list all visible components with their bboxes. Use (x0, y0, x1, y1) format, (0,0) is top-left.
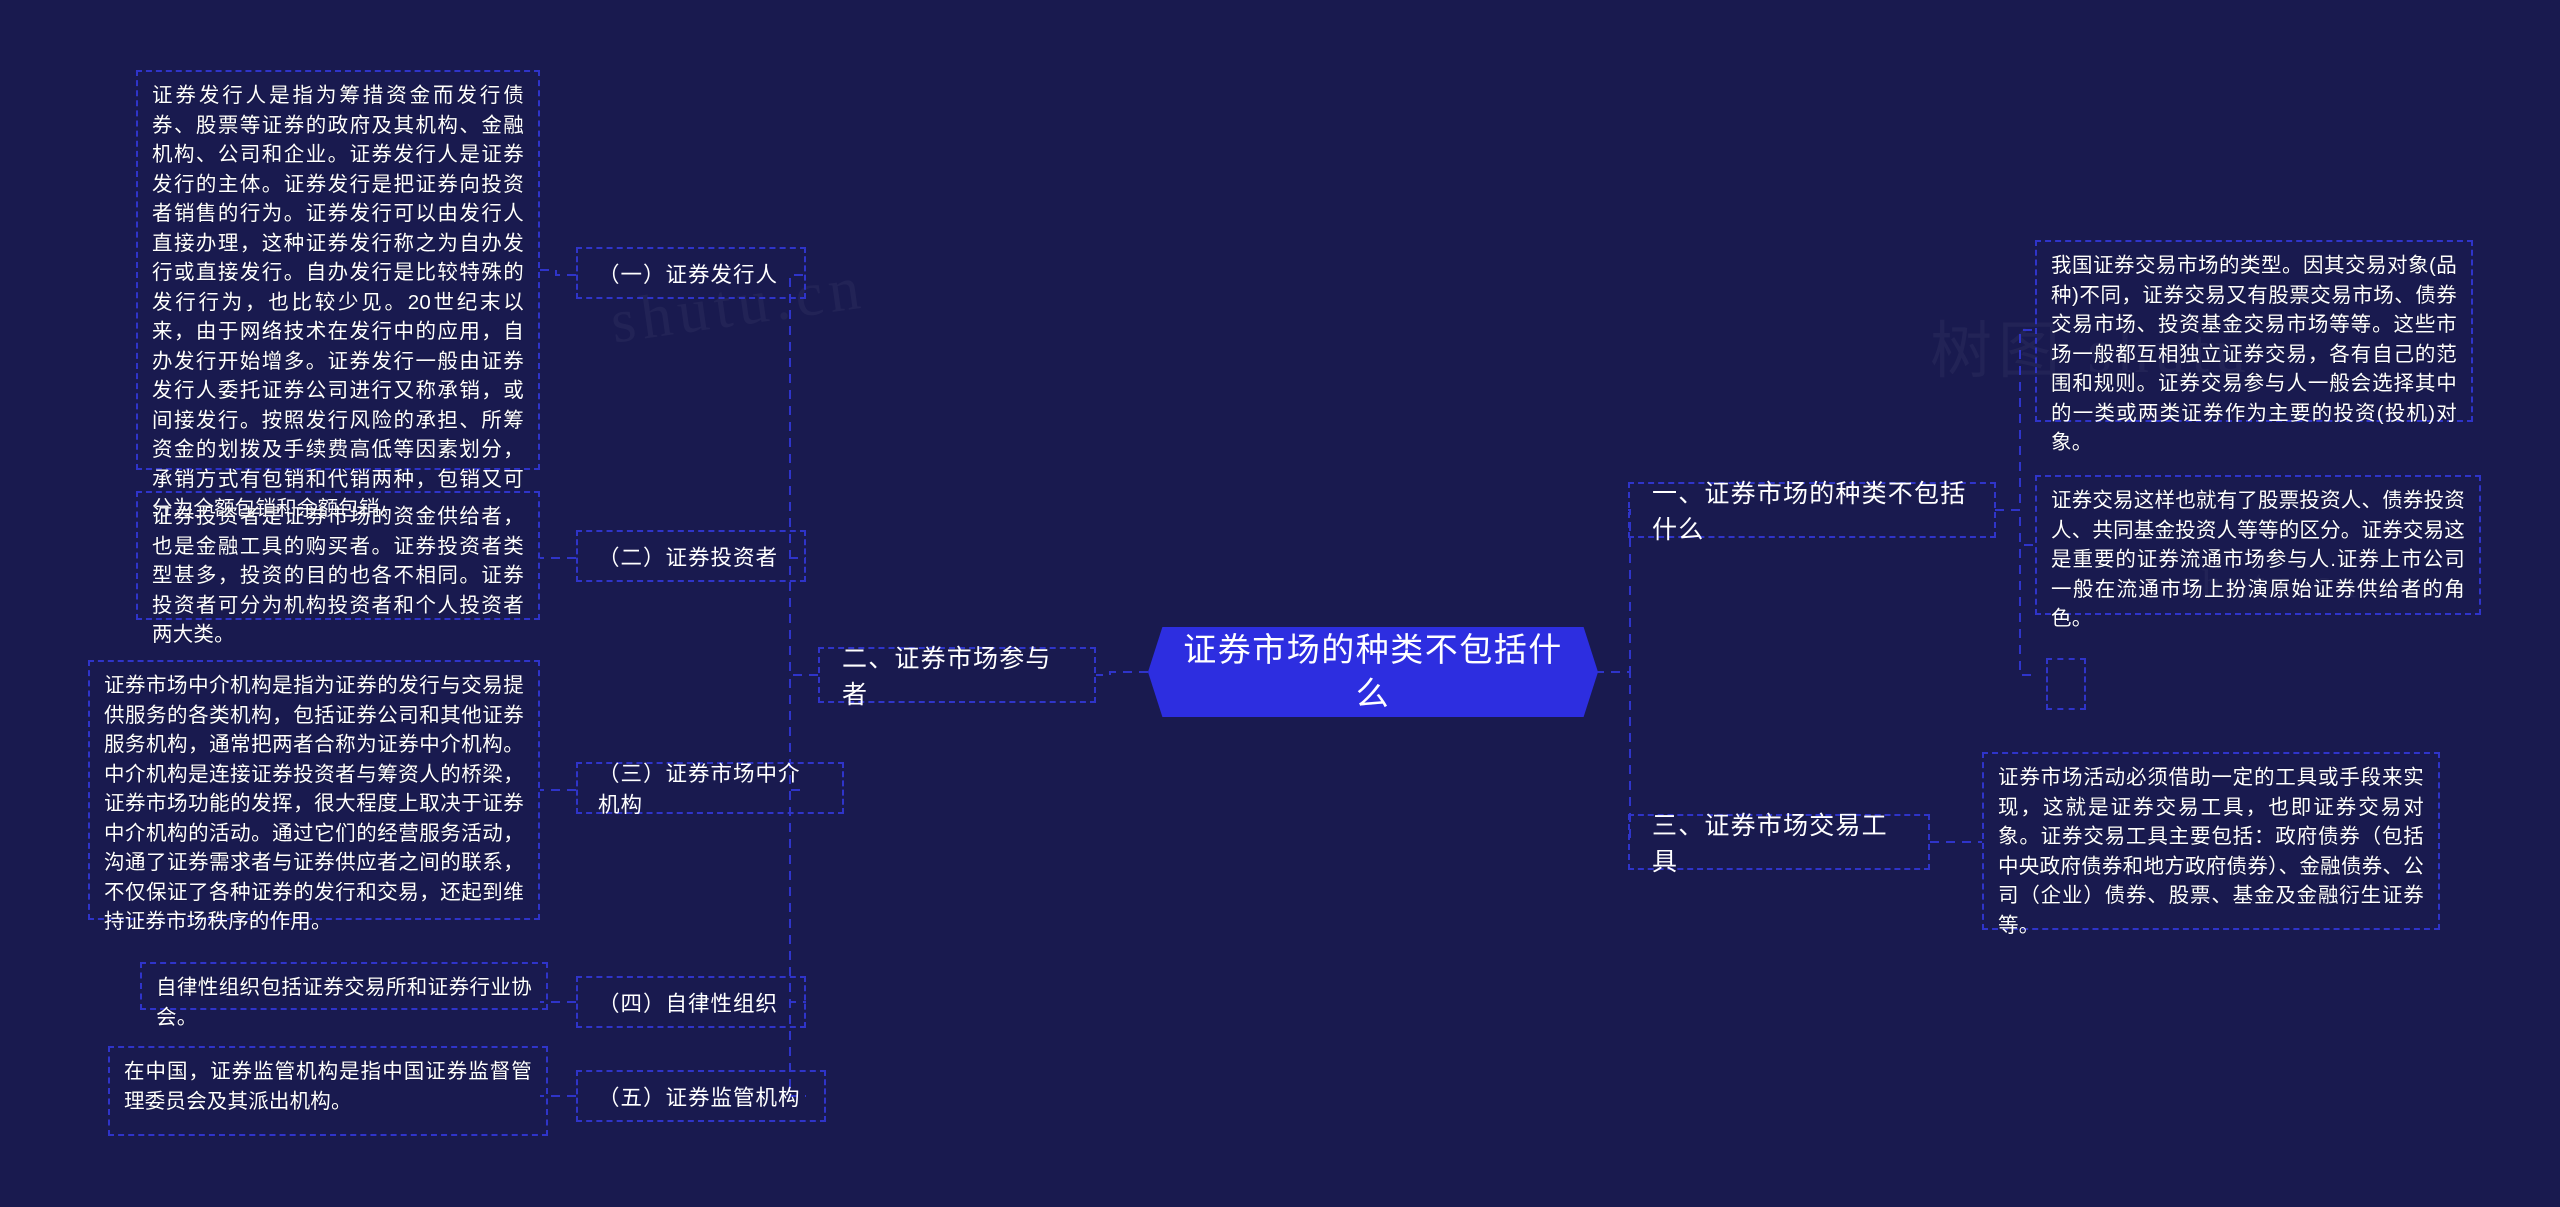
detail-node-2-2[interactable]: 证券投资者是证券市场的资金供给者，也是金融工具的购买者。证券投资者类型甚多，投资… (136, 491, 540, 620)
detail-node-1-3-stub[interactable] (2046, 658, 2086, 710)
detail-node-2-5[interactable]: 在中国，证券监管机构是指中国证券监督管理委员会及其派出机构。 (108, 1046, 548, 1136)
detail-node-1-1[interactable]: 我国证券交易市场的类型。因其交易对象(品种)不同，证券交易又有股票交易市场、债券… (2035, 240, 2473, 422)
branch-node-2[interactable]: 二、证券市场参与者 (818, 647, 1096, 703)
detail-node-3-1[interactable]: 证券市场活动必须借助一定的工具或手段来实现，这就是证券交易工具，也即证券交易对象… (1982, 752, 2440, 930)
root-node[interactable]: 证券市场的种类不包括什么 (1148, 627, 1598, 717)
detail-node-1-2[interactable]: 证券交易这样也就有了股票投资人、债券投资人、共同基金投资人等等的区分。证券交易这… (2035, 475, 2481, 615)
subnode-2-4[interactable]: （四）自律性组织 (576, 976, 806, 1028)
subnode-2-5[interactable]: （五）证券监管机构 (576, 1070, 826, 1122)
detail-node-2-1[interactable]: 证券发行人是指为筹措资金而发行债券、股票等证券的政府及其机构、金融机构、公司和企… (136, 70, 540, 470)
subnode-2-3[interactable]: （三）证券市场中介机构 (576, 762, 844, 814)
branch-node-3[interactable]: 三、证券市场交易工具 (1628, 814, 1930, 870)
detail-node-2-4[interactable]: 自律性组织包括证券交易所和证券行业协会。 (140, 962, 548, 1010)
mindmap-canvas: shutu.cn 树图 shutu shutu.cn (0, 0, 2560, 1207)
subnode-2-2[interactable]: （二）证券投资者 (576, 530, 806, 582)
branch-node-1[interactable]: 一、证券市场的种类不包括什么 (1628, 482, 1996, 538)
subnode-2-1[interactable]: （一）证券发行人 (576, 247, 806, 299)
detail-node-2-3[interactable]: 证券市场中介机构是指为证券的发行与交易提供服务的各类机构，包括证券公司和其他证券… (88, 660, 540, 920)
